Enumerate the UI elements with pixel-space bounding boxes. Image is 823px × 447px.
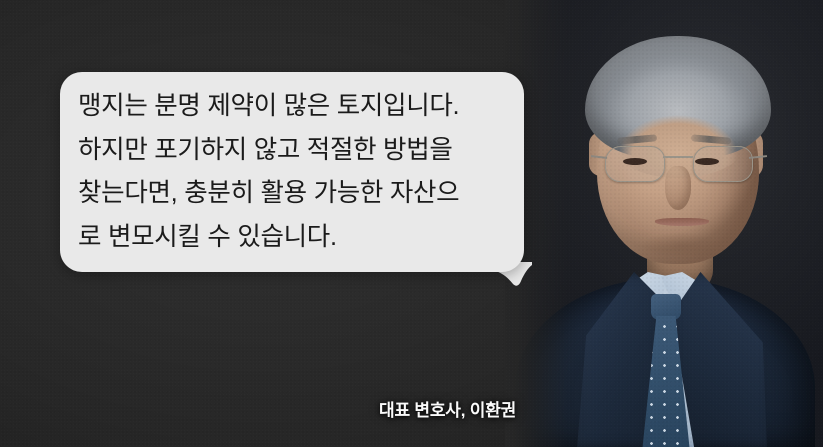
portrait-mouth bbox=[655, 218, 709, 226]
speech-bubble-text: 맹지는 분명 제약이 많은 토지입니다. 하지만 포기하지 않고 적절한 방법을… bbox=[78, 85, 508, 259]
lawyer-portrait-photo bbox=[505, 0, 823, 447]
portrait-eye-right bbox=[695, 158, 719, 165]
portrait-eye-left bbox=[623, 158, 647, 165]
portrait-torso bbox=[505, 268, 823, 447]
glasses-bridge bbox=[663, 156, 693, 158]
portrait-glasses bbox=[597, 144, 761, 186]
portrait-chin-shadow bbox=[641, 232, 721, 258]
promotional-quote-card: 맹지는 분명 제약이 많은 토지입니다. 하지만 포기하지 않고 적절한 방법을… bbox=[0, 0, 823, 447]
speaker-caption: 대표 변호사, 이환권 bbox=[379, 396, 516, 421]
